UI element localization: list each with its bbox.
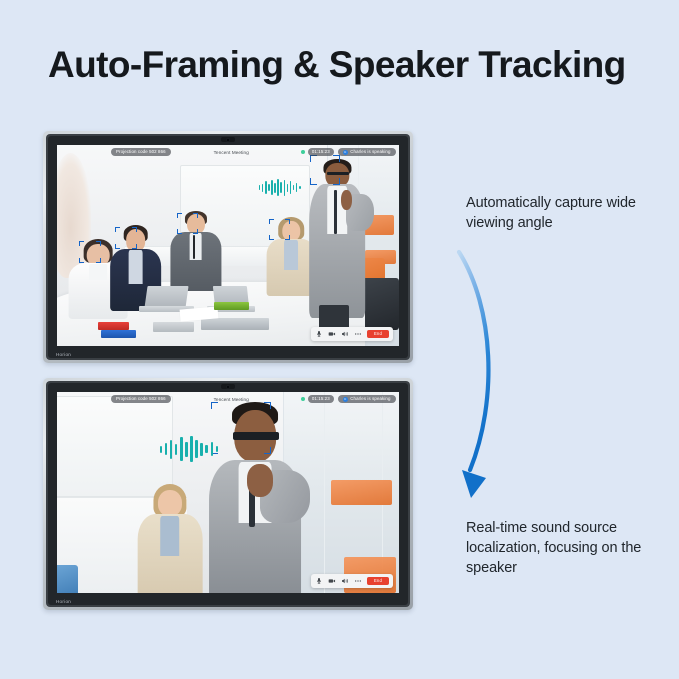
- speaker-icon[interactable]: [341, 577, 349, 585]
- waveform-bar: [180, 437, 183, 461]
- waveform-bar: [216, 446, 219, 452]
- whiteboard: [57, 396, 173, 497]
- speaker-avatar: C: [343, 397, 348, 402]
- end-call-button[interactable]: End: [367, 577, 389, 585]
- page-title: Auto-Framing & Speaker Tracking: [48, 44, 648, 86]
- video-camera-icon[interactable]: [328, 330, 336, 338]
- waveform-bar: [190, 436, 193, 462]
- meeting-timer: 01:15:23: [308, 395, 334, 403]
- participant-shirt: [284, 240, 298, 270]
- waveform-bar: [200, 443, 203, 456]
- waveform-bar: [280, 182, 282, 193]
- video-camera-icon[interactable]: [328, 577, 336, 585]
- chair-orange: [57, 565, 78, 593]
- more-options-icon[interactable]: [354, 330, 362, 338]
- waveform-bar: [265, 181, 267, 193]
- end-call-button[interactable]: End: [367, 330, 389, 338]
- waveform-bar: [277, 179, 279, 196]
- annotation-top: Automatically capture wide viewing angle: [466, 193, 666, 233]
- laptop-keyboard-front: [201, 318, 269, 330]
- monitor-bezel-inner: Horion: [48, 383, 408, 605]
- waveform-bar: [299, 186, 301, 189]
- meeting-name-label: Tencent Meeting: [214, 397, 249, 402]
- video-feed-speaker-closeup: [57, 392, 399, 593]
- mic-active-indicator-icon: [301, 397, 305, 401]
- face-tracking-box-active-speaker: [310, 155, 340, 185]
- waveform-bar: [284, 180, 286, 196]
- waveform-bar: [170, 440, 173, 459]
- microphone-icon[interactable]: [315, 330, 323, 338]
- waveform-bar: [195, 440, 198, 458]
- waveform-bar: [290, 181, 292, 193]
- speaker-avatar: C: [343, 150, 348, 155]
- bottom-display-monitor: Horion: [43, 378, 413, 610]
- face-tracking-box-3: [177, 213, 198, 234]
- participant-shirt: [128, 250, 143, 284]
- waveform-bar: [274, 183, 276, 193]
- speaker-tie: [334, 190, 337, 234]
- waveform-bar: [293, 185, 295, 191]
- projection-code-badge: Projection code 502 866: [111, 148, 171, 156]
- active-speaker-badge[interactable]: C Charles is speaking: [338, 148, 396, 156]
- face-tracking-box-2: [115, 227, 137, 249]
- sound-source-waveform: [160, 436, 219, 462]
- waveform-bar: [211, 442, 214, 456]
- speaker-icon[interactable]: [341, 330, 349, 338]
- speaker-badge-label: Charles is speaking: [350, 397, 390, 401]
- speaker-badge-label: Charles is speaking: [350, 150, 390, 154]
- more-options-icon[interactable]: [354, 577, 362, 585]
- top-display-control-bar[interactable]: End: [311, 327, 393, 341]
- video-feed-wide-angle: [57, 145, 399, 346]
- top-display-monitor: Horion: [43, 131, 413, 363]
- waveform-bar: [205, 445, 208, 453]
- mic-active-indicator-icon: [301, 150, 305, 154]
- top-display-screen: Projection code 502 866 Tencent Meeting …: [57, 145, 399, 346]
- brand-logo: Horion: [56, 352, 71, 357]
- face-tracking-box-4: [269, 219, 290, 240]
- microphone-icon[interactable]: [315, 577, 323, 585]
- infographic-page: Auto-Framing & Speaker Tracking Horion: [0, 0, 679, 679]
- waveform-bar: [165, 443, 168, 455]
- sound-source-waveform: [259, 179, 301, 196]
- waveform-bar: [268, 184, 270, 191]
- monitor-bezel: Horion: [46, 381, 410, 607]
- participant-seated: [132, 484, 207, 593]
- monitor-bezel-inner: Horion: [48, 136, 408, 358]
- top-display-statusbar: Projection code 502 866 Tencent Meeting …: [57, 145, 399, 159]
- speaker-hand: [247, 464, 273, 496]
- window-mullion: [324, 392, 326, 593]
- monitor-bezel: Horion: [46, 134, 410, 360]
- bottom-display-control-bar[interactable]: End: [311, 574, 393, 588]
- waveform-bar: [271, 180, 273, 195]
- face-tracking-box-1: [79, 241, 101, 263]
- waveform-bar: [296, 183, 298, 192]
- camera-module-icon: [221, 384, 235, 389]
- active-speaker-badge[interactable]: C Charles is speaking: [338, 395, 396, 403]
- annotation-top-text: Automatically capture wide viewing angle: [466, 195, 636, 231]
- participant-shirt: [160, 516, 180, 556]
- book-red: [98, 322, 129, 330]
- orange-furniture-right: [331, 480, 393, 504]
- waveform-bar: [287, 184, 289, 192]
- waveform-bar: [160, 446, 163, 453]
- bottom-display-statusbar: Projection code 502 866 Tencent Meeting …: [57, 392, 399, 406]
- annotation-bottom: Real-time sound source localization, foc…: [466, 518, 671, 578]
- face-tracking-box-active-speaker: [211, 402, 271, 454]
- laptop-keyboard-front-2: [153, 322, 194, 332]
- laptop-lid-1: [144, 286, 188, 308]
- book-blue: [101, 330, 135, 338]
- projection-code-badge: Projection code 502 866: [111, 395, 171, 403]
- brand-logo: Horion: [56, 599, 71, 604]
- bottom-display-screen: Projection code 502 866 Tencent Meeting …: [57, 392, 399, 593]
- waveform-bar: [185, 442, 188, 457]
- waveform-bar: [259, 185, 261, 190]
- camera-module-icon: [221, 137, 235, 142]
- book-green: [214, 302, 248, 310]
- participant-tie: [193, 235, 195, 259]
- annotation-bottom-text: Real-time sound source localization, foc…: [466, 520, 641, 576]
- participant-shirt: [189, 233, 202, 261]
- waveform-bar: [175, 444, 178, 455]
- meeting-name-label: Tencent Meeting: [214, 150, 249, 155]
- waveform-bar: [262, 184, 264, 192]
- meeting-timer: 01:15:23: [308, 148, 334, 156]
- participant-head: [158, 490, 182, 516]
